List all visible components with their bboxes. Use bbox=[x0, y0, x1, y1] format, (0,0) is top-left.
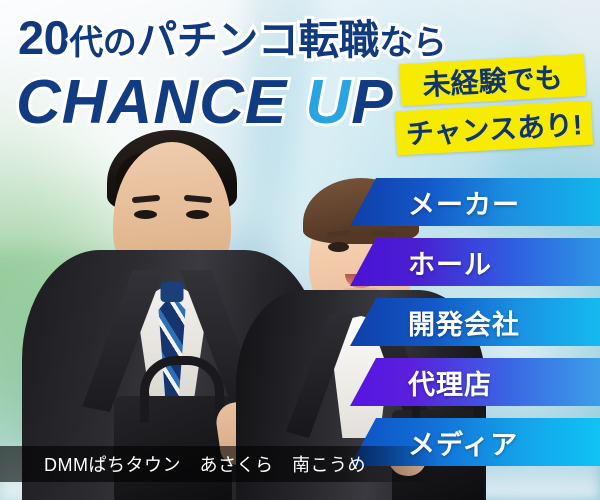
headline-kanji-suffix: 代の bbox=[69, 24, 136, 62]
category-label-hall: ホール bbox=[350, 243, 492, 282]
category-label-agency: 代理店 bbox=[350, 363, 492, 402]
chance-up-banner[interactable]: 20代のパチンコ転職なら CHANCE UP 未経験でも チャンスあり! メーカ… bbox=[0, 0, 600, 500]
male-eye-right bbox=[186, 210, 209, 219]
headline: 20代のパチンコ転職なら bbox=[18, 14, 446, 61]
category-label-media: メディア bbox=[350, 423, 518, 462]
headline-main: パチンコ転職 bbox=[136, 17, 379, 63]
category-item-agency[interactable]: 代理店 bbox=[350, 358, 600, 406]
category-label-maker: メーカー bbox=[350, 183, 520, 222]
headline-number: 20 bbox=[18, 11, 69, 64]
male-eye-left bbox=[134, 210, 157, 219]
logo-letter-u: U bbox=[305, 72, 351, 134]
category-item-maker[interactable]: メーカー bbox=[350, 178, 600, 226]
male-tie-knot bbox=[161, 282, 184, 302]
chance-up-logo: CHANCE UP bbox=[16, 72, 394, 134]
badge-chance-available-label: チャンスあり! bbox=[405, 103, 583, 153]
category-list: メーカー ホール 開発会社 代理店 メディア bbox=[350, 178, 600, 478]
credits-caption-text: DMMぱちタウン あさくら 南こうめ bbox=[44, 451, 366, 477]
female-eye-left bbox=[328, 242, 349, 252]
headline-tail: なら bbox=[379, 24, 446, 62]
category-item-media[interactable]: メディア bbox=[350, 418, 600, 466]
category-item-developer[interactable]: 開発会社 bbox=[350, 298, 600, 346]
logo-word-chance: CHANCE bbox=[16, 68, 287, 137]
badge-no-experience-label: 未経験でも bbox=[421, 56, 563, 104]
logo-letter-p: P bbox=[351, 68, 393, 137]
category-label-developer: 開発会社 bbox=[350, 303, 520, 342]
category-item-hall[interactable]: ホール bbox=[350, 238, 600, 286]
